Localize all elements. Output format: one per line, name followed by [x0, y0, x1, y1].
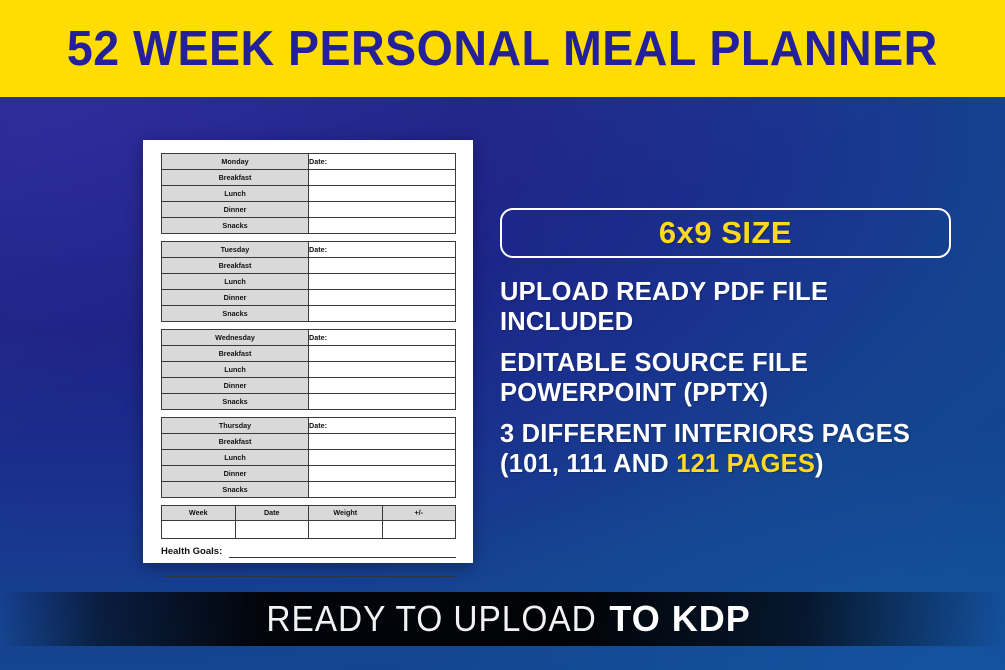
- meal-entry-blank: [309, 362, 456, 378]
- weight-cell-blank: [162, 521, 236, 539]
- table-row: Tuesday Date:: [162, 242, 456, 258]
- table-row: Thursday Date:: [162, 418, 456, 434]
- meal-label: Snacks: [162, 482, 309, 498]
- table-row: Wednesday Date:: [162, 330, 456, 346]
- meal-entry-blank: [309, 170, 456, 186]
- day-table-tuesday: Tuesday Date: Breakfast Lunch Dinner Sna…: [161, 241, 456, 322]
- table-row: Breakfast: [162, 434, 456, 450]
- date-cell: Date:: [309, 154, 456, 170]
- meal-label: Breakfast: [162, 434, 309, 450]
- poster-canvas: 52 WEEK PERSONAL MEAL PLANNER Monday Dat…: [0, 0, 1005, 670]
- meal-entry-blank: [309, 482, 456, 498]
- meal-label: Lunch: [162, 274, 309, 290]
- table-row: Snacks: [162, 306, 456, 322]
- meal-label: Lunch: [162, 186, 309, 202]
- meal-label: Snacks: [162, 306, 309, 322]
- column-header-date: Date: [235, 506, 309, 521]
- page-title: 52 WEEK PERSONAL MEAL PLANNER: [67, 21, 938, 77]
- meal-entry-blank: [309, 218, 456, 234]
- weight-cell-blank: [382, 521, 456, 539]
- meal-label: Dinner: [162, 378, 309, 394]
- day-name-cell: Wednesday: [162, 330, 309, 346]
- meal-entry-blank: [309, 450, 456, 466]
- table-row: Breakfast: [162, 258, 456, 274]
- footer-text-bold: TO KDP: [609, 598, 750, 639]
- weight-tracker-table: Week Date Weight +/-: [161, 505, 456, 539]
- table-row: Dinner: [162, 290, 456, 306]
- meal-label: Breakfast: [162, 346, 309, 362]
- health-goals-label: Health Goals:: [161, 546, 222, 558]
- table-row: Lunch: [162, 450, 456, 466]
- column-header-weight: Weight: [309, 506, 383, 521]
- meal-label: Dinner: [162, 202, 309, 218]
- meal-entry-blank: [309, 346, 456, 362]
- table-row: Dinner: [162, 378, 456, 394]
- planner-page-content: Monday Date: Breakfast Lunch Dinner Snac…: [161, 153, 456, 582]
- meal-entry-blank: [309, 466, 456, 482]
- table-row: Snacks: [162, 218, 456, 234]
- feature-line-3-highlight: 121 PAGES: [676, 450, 815, 478]
- meal-label: Lunch: [162, 450, 309, 466]
- table-row: Lunch: [162, 362, 456, 378]
- feature-line-2: EDITABLE SOURCE FILE POWERPOINT (PPTX): [500, 348, 958, 408]
- meal-label: Lunch: [162, 362, 309, 378]
- footer-banner: READY TO UPLOAD TO KDP: [0, 592, 1005, 646]
- header-banner: 52 WEEK PERSONAL MEAL PLANNER: [0, 0, 1005, 97]
- meal-entry-blank: [309, 258, 456, 274]
- date-cell: Date:: [309, 418, 456, 434]
- column-header-plusminus: +/-: [382, 506, 456, 521]
- day-table-thursday: Thursday Date: Breakfast Lunch Dinner Sn…: [161, 417, 456, 498]
- date-cell: Date:: [309, 242, 456, 258]
- meal-entry-blank: [309, 378, 456, 394]
- feature-list: 6x9 SIZE UPLOAD READY PDF FILE INCLUDED …: [500, 208, 958, 490]
- health-goals-write-line: [165, 576, 456, 577]
- table-row: Snacks: [162, 394, 456, 410]
- meal-entry-blank: [309, 186, 456, 202]
- table-row: Snacks: [162, 482, 456, 498]
- table-row: Lunch: [162, 186, 456, 202]
- meal-entry-blank: [309, 274, 456, 290]
- feature-line-3-suffix: ): [815, 450, 824, 478]
- meal-entry-blank: [309, 394, 456, 410]
- footer-text: READY TO UPLOAD TO KDP: [254, 599, 750, 639]
- day-name-cell: Tuesday: [162, 242, 309, 258]
- day-table-wednesday: Wednesday Date: Breakfast Lunch Dinner S…: [161, 329, 456, 410]
- weight-cell-blank: [235, 521, 309, 539]
- health-goals-section: Health Goals:: [161, 546, 456, 582]
- column-header-week: Week: [162, 506, 236, 521]
- meal-entry-blank: [309, 434, 456, 450]
- meal-label: Breakfast: [162, 258, 309, 274]
- planner-page-preview: Monday Date: Breakfast Lunch Dinner Snac…: [143, 140, 473, 563]
- meal-label: Snacks: [162, 394, 309, 410]
- weight-cell-blank: [309, 521, 383, 539]
- date-cell: Date:: [309, 330, 456, 346]
- table-row: Lunch: [162, 274, 456, 290]
- table-row: Dinner: [162, 202, 456, 218]
- feature-line-1: UPLOAD READY PDF FILE INCLUDED: [500, 277, 958, 337]
- day-name-cell: Thursday: [162, 418, 309, 434]
- feature-line-3: 3 DIFFERENT INTERIORS PAGES (101, 111 AN…: [500, 419, 958, 479]
- meal-label: Dinner: [162, 466, 309, 482]
- meal-entry-blank: [309, 202, 456, 218]
- footer-text-thin: READY TO UPLOAD: [267, 599, 597, 639]
- meal-entry-blank: [309, 290, 456, 306]
- table-row: Monday Date:: [162, 154, 456, 170]
- table-row: Breakfast: [162, 346, 456, 362]
- size-badge: 6x9 SIZE: [500, 208, 951, 258]
- meal-label: Dinner: [162, 290, 309, 306]
- table-row: Breakfast: [162, 170, 456, 186]
- table-row: Dinner: [162, 466, 456, 482]
- meal-entry-blank: [309, 306, 456, 322]
- table-row: [162, 521, 456, 539]
- meal-label: Breakfast: [162, 170, 309, 186]
- size-badge-label: 6x9 SIZE: [659, 215, 792, 251]
- table-row: Week Date Weight +/-: [162, 506, 456, 521]
- day-table-monday: Monday Date: Breakfast Lunch Dinner Snac…: [161, 153, 456, 234]
- health-goals-write-line: [229, 557, 456, 558]
- day-name-cell: Monday: [162, 154, 309, 170]
- meal-label: Snacks: [162, 218, 309, 234]
